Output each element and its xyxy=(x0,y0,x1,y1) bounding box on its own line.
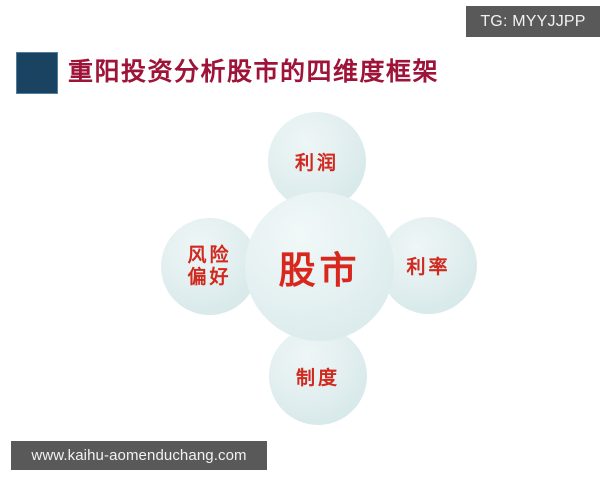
bubble-interest-rate-label: 利率 xyxy=(406,252,450,279)
bubble-stock-market-label: 股市 xyxy=(279,240,361,294)
bubble-institution-label: 制度 xyxy=(296,363,340,390)
bubble-risk-appetite[interactable]: 风险 偏好 xyxy=(161,218,258,315)
four-dimension-framework-diagram: 利润 风险 偏好 利率 制度 股市 xyxy=(0,0,600,480)
bubble-risk-appetite-label-line1: 风险 xyxy=(187,245,231,267)
watermark-bottom-left: www.kaihu-aomenduchang.com xyxy=(11,441,267,470)
bubble-institution[interactable]: 制度 xyxy=(269,327,367,425)
slide-canvas: TG: MYYJJPP 重阳投资分析股市的四维度框架 利润 风险 偏好 利率 制… xyxy=(0,0,600,480)
bubble-interest-rate[interactable]: 利率 xyxy=(380,217,477,314)
bubble-profit-label: 利润 xyxy=(295,148,339,175)
bubble-stock-market[interactable]: 股市 xyxy=(245,192,394,341)
bubble-risk-appetite-label: 风险 偏好 xyxy=(187,245,231,289)
bubble-risk-appetite-label-line2: 偏好 xyxy=(187,267,231,289)
